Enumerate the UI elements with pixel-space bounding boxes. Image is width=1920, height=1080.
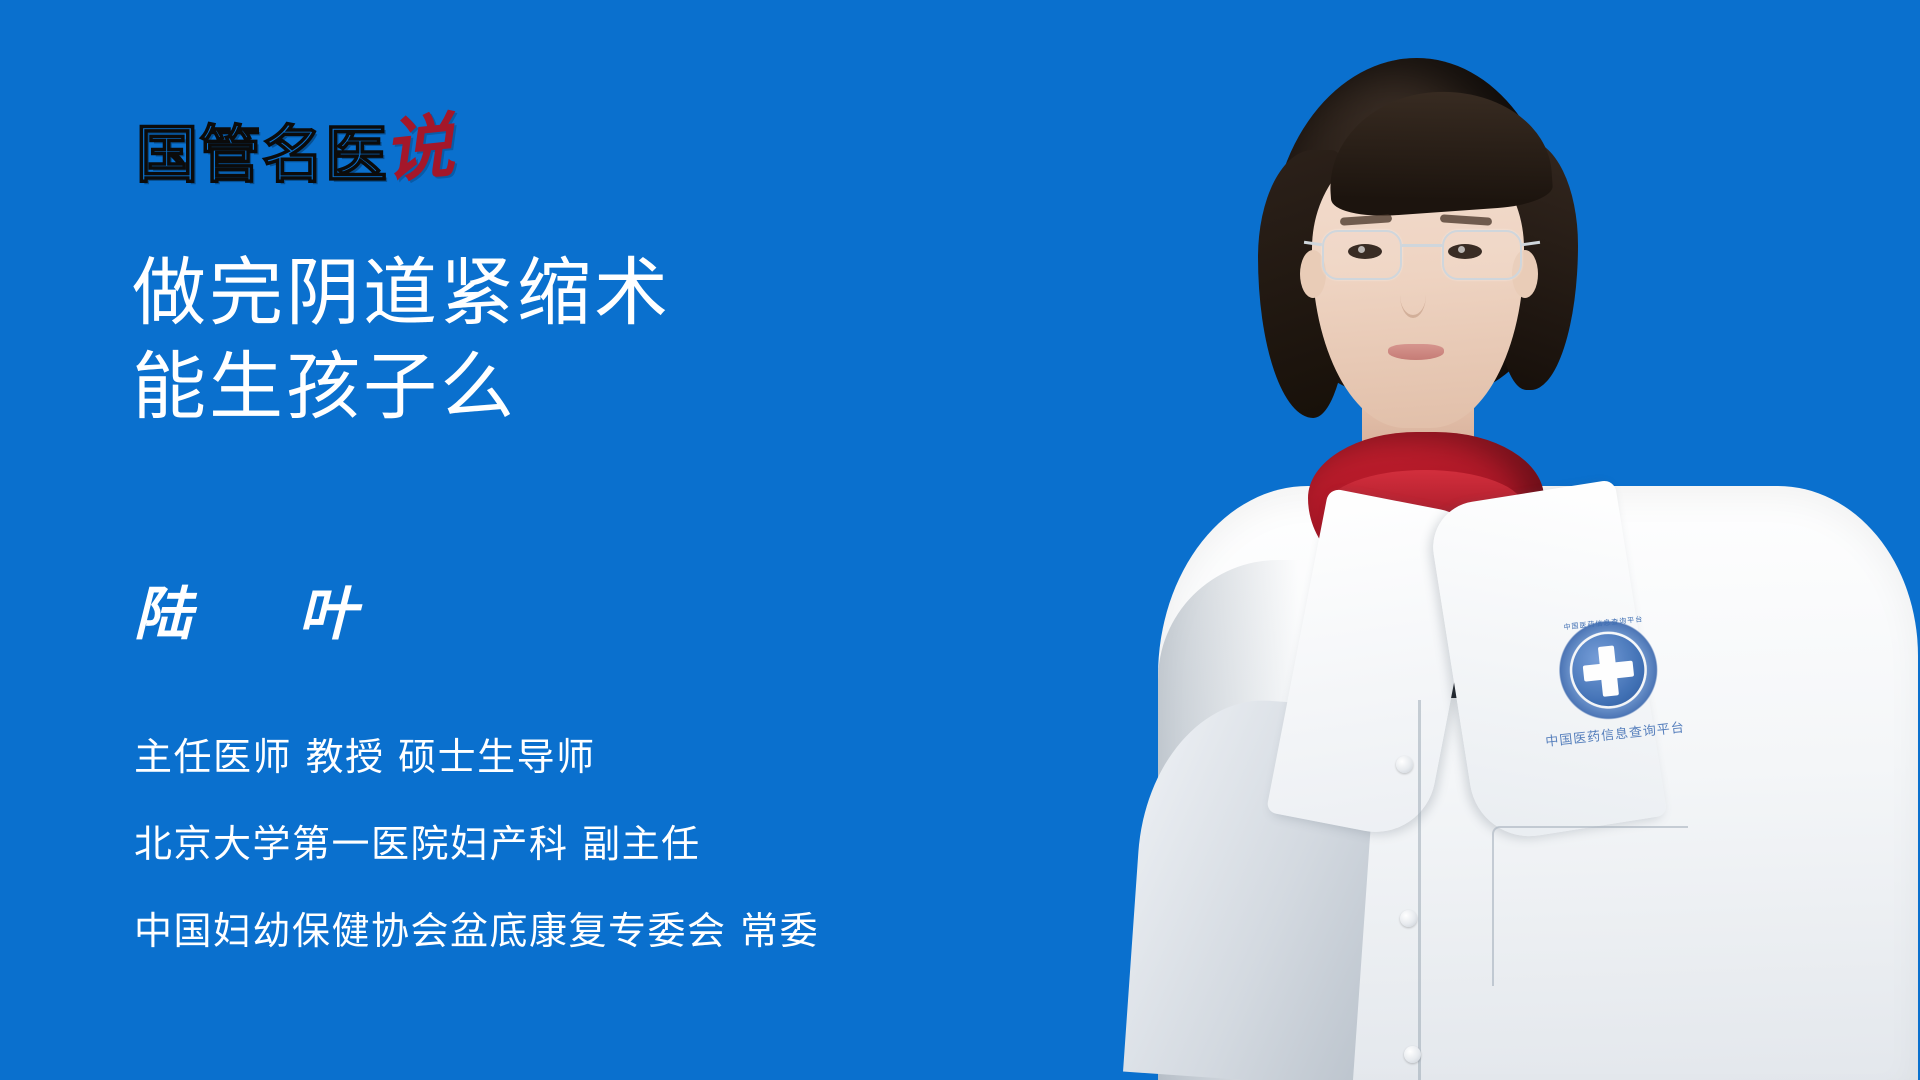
credential-line-1: 主任医师 教授 硕士生导师 [134, 735, 819, 780]
coat-button [1396, 756, 1413, 773]
eyeglass-bridge [1402, 244, 1442, 247]
coat-pocket [1492, 826, 1688, 986]
poster-canvas: 国管名医 说 做完阴道紧缩术 能生孩子么 陆 叶 主任医师 教授 硕士生导师 北… [0, 0, 1920, 1080]
doctor-name: 陆 叶 [134, 580, 378, 648]
coat-badge: 中国医药信息查询平台 中国医药信息查询平台 [1524, 612, 1697, 760]
eyeglass-lens-right [1442, 230, 1522, 280]
credential-line-2: 北京大学第一医院妇产科 副主任 [134, 822, 819, 867]
doctor-credentials-list: 主任医师 教授 硕士生导师 北京大学第一医院妇产科 副主任 中国妇幼保健协会盆底… [134, 735, 819, 954]
brand-logo-main-text: 国管名医 [136, 124, 388, 186]
headline-line-2: 能生孩子么 [132, 340, 671, 434]
doctor-portrait: 中国医药信息查询平台 中国医药信息查询平台 [1100, 0, 1920, 1080]
brand-logo: 国管名医 说 [136, 108, 454, 186]
credential-line-3: 中国妇幼保健协会盆底康复专委会 常委 [134, 909, 819, 954]
coat-button [1400, 910, 1417, 927]
headline-line-1: 做完阴道紧缩术 [132, 246, 671, 340]
badge-caption: 中国医药信息查询平台 [1534, 715, 1695, 751]
mouth [1388, 344, 1444, 360]
coat-button [1404, 1046, 1421, 1063]
medical-cross-emblem-icon: 中国医药信息查询平台 [1553, 615, 1663, 725]
nose [1400, 272, 1426, 318]
coat-seam [1418, 700, 1421, 1080]
headline-block: 做完阴道紧缩术 能生孩子么 [132, 246, 671, 434]
brand-logo-accent-text: 说 [380, 115, 456, 184]
eyeglass-lens-left [1322, 230, 1402, 280]
